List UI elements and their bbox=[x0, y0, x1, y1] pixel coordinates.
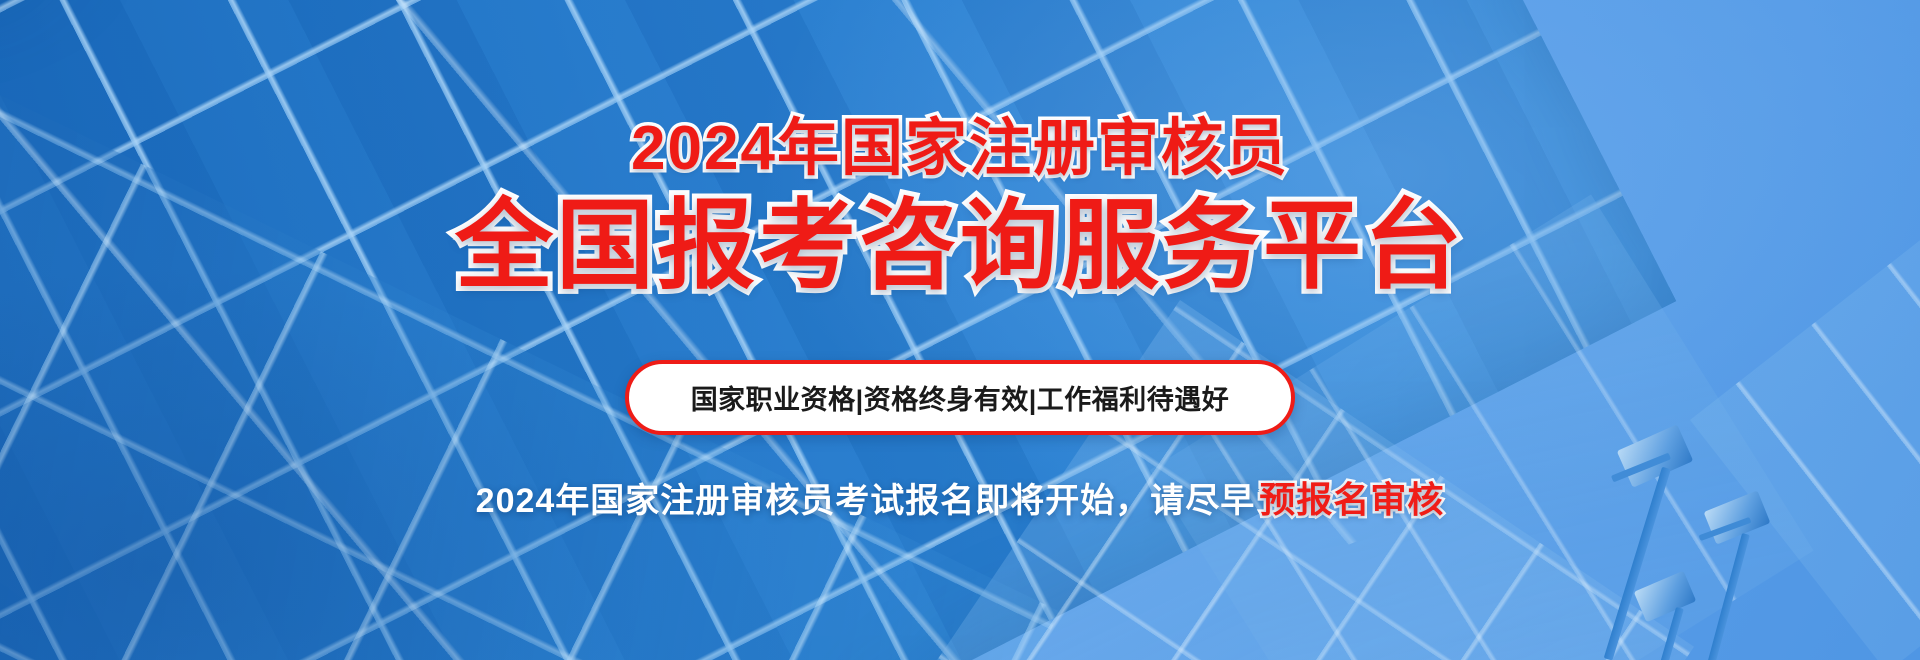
promo-banner: 2024年国家注册审核员 全国报考咨询服务平台 国家职业资格|资格终身有效|工作… bbox=[0, 0, 1920, 660]
registration-notice: 2024年国家注册审核员考试报名即将开始，请尽早 预报名审核 bbox=[476, 471, 1445, 523]
banner-content: 2024年国家注册审核员 全国报考咨询服务平台 国家职业资格|资格终身有效|工作… bbox=[0, 0, 1920, 660]
qualification-badge-label: 国家职业资格|资格终身有效|工作福利待遇好 bbox=[691, 378, 1230, 417]
headline-line-2: 全国报考咨询服务平台 bbox=[455, 196, 1465, 294]
qualification-badge: 国家职业资格|资格终身有效|工作福利待遇好 bbox=[625, 360, 1296, 435]
registration-notice-accent: 预报名审核 bbox=[1259, 471, 1444, 523]
registration-notice-text: 2024年国家注册审核员考试报名即将开始，请尽早 bbox=[476, 473, 1256, 522]
headline-line-1: 2024年国家注册审核员 bbox=[631, 118, 1289, 180]
